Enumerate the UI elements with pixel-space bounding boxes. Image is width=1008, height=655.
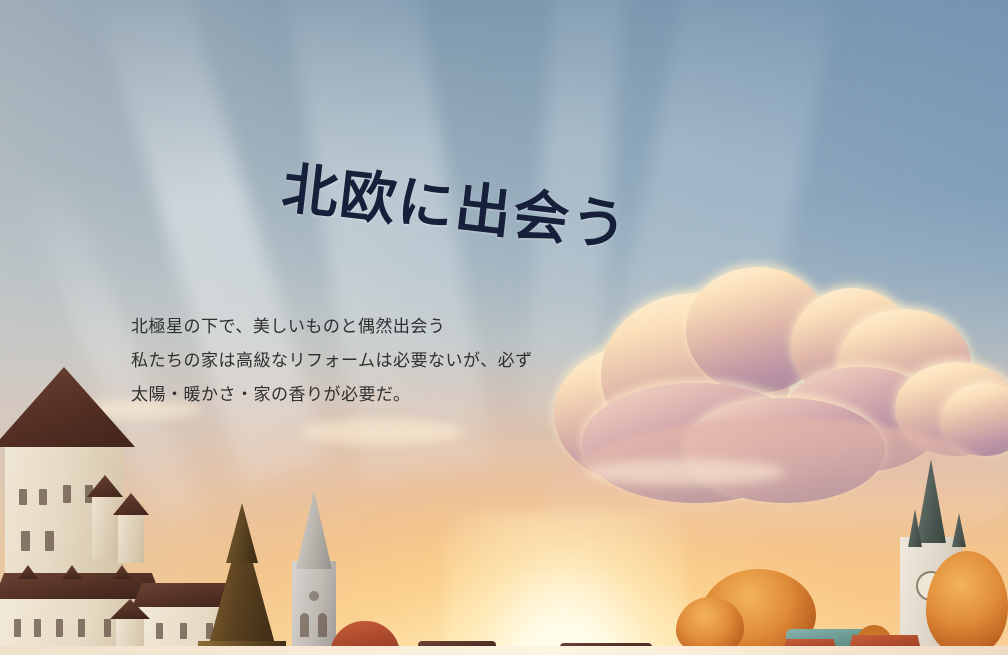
description-line: 私たちの家は高級なリフォームは必要ないが、必ず — [131, 344, 533, 378]
hero-banner: 北欧に出会う 北極星の下で、美しいものと偶然出会う 私たちの家は高級なリフォーム… — [0, 0, 1008, 655]
castle-roof — [0, 367, 135, 447]
castle-turret — [92, 495, 118, 559]
hero-description: 北極星の下で、美しいものと偶然出会う 私たちの家は高級なリフォームは必要ないが、… — [131, 310, 533, 412]
church-tower — [292, 561, 336, 655]
church-spire — [296, 491, 332, 569]
spire-pinnacle — [952, 513, 966, 547]
clock-tower-spire — [916, 459, 946, 543]
description-line: 北極星の下で、美しいものと偶然出会う — [131, 310, 533, 344]
gothic-spire-top — [226, 503, 258, 563]
town-skyline — [0, 380, 1008, 655]
description-line: 太陽・暖かさ・家の香りが必要だ。 — [131, 378, 533, 412]
autumn-tree — [926, 551, 1008, 655]
foreground-haze-strip — [0, 646, 1008, 655]
castle-turret — [118, 513, 144, 563]
